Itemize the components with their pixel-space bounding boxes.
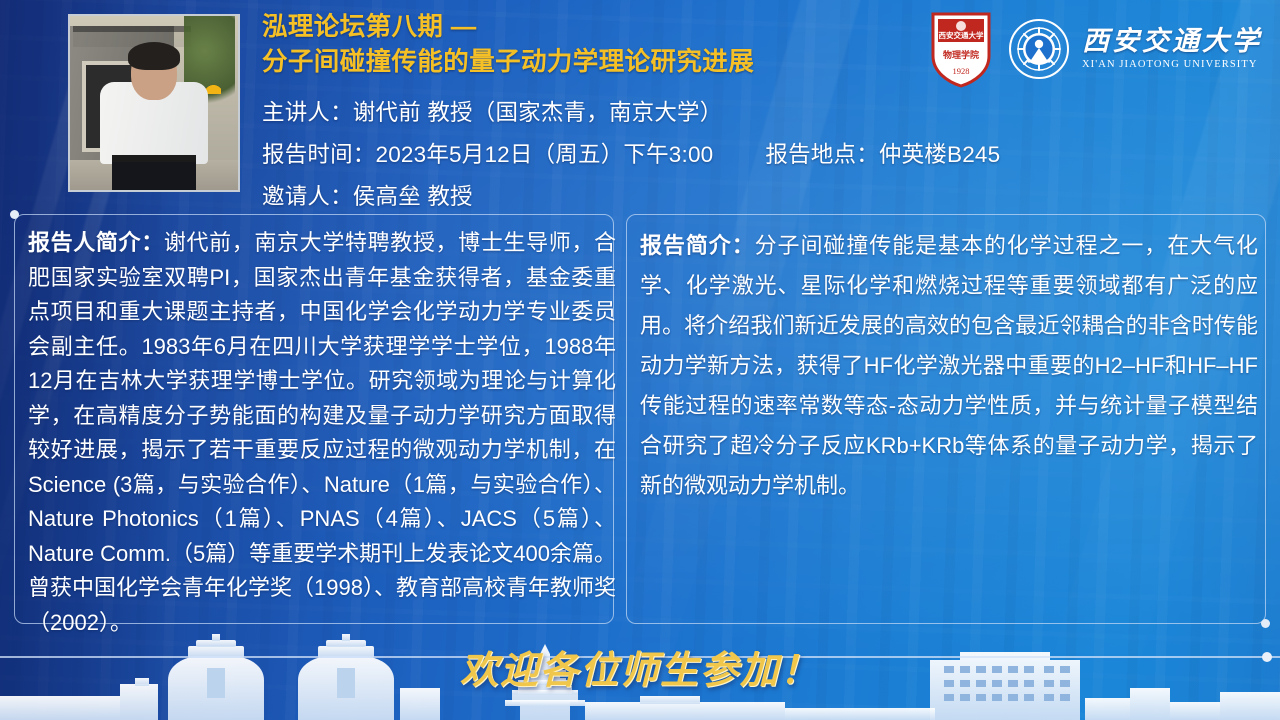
svg-text:物理学院: 物理学院: [943, 49, 979, 60]
poster-title: 泓理论坛第八期 — 分子间碰撞传能的量子动力学理论研究进展: [262, 10, 952, 79]
title-line-2: 分子间碰撞传能的量子动力学理论研究进展: [262, 45, 952, 80]
xjtu-name-en: XI'AN JIAOTONG UNIVERSITY: [1082, 60, 1258, 71]
speaker-photo: [68, 14, 240, 192]
time-place-row: 报告时间：2023年5月12日（周五）下午3:00 报告地点：仲英楼B245: [262, 134, 1102, 176]
place-text: 报告地点：仲英楼B245: [765, 144, 1000, 167]
speaker-bio-text: 报告人简介：谢代前，南京大学特聘教授，博士生导师，合肥国家实验室双聘PI，国家杰…: [28, 226, 616, 640]
speaker-bio-label: 报告人简介：: [28, 230, 164, 255]
xjtu-name-cn: 西安交通大学: [1082, 28, 1262, 55]
svg-text:1928: 1928: [953, 66, 970, 76]
abstract-text: 报告简介：分子间碰撞传能是基本的化学过程之一，在大气化学、化学激光、星际化学和燃…: [640, 226, 1258, 506]
speaker-bio-body: 谢代前，南京大学特聘教授，博士生导师，合肥国家实验室双聘PI，国家杰出青年基金获…: [28, 230, 616, 635]
speaker-row: 主讲人：谢代前 教授（国家杰青，南京大学）: [262, 92, 1102, 134]
svg-text:西安交通大学: 西安交通大学: [939, 30, 984, 40]
abstract-label: 报告简介：: [640, 233, 755, 258]
host-text: 邀请人：侯高垒 教授: [262, 186, 473, 209]
time-text: 报告时间：2023年5月12日（周五）下午3:00: [262, 144, 713, 167]
seminar-poster: 泓理论坛第八期 — 分子间碰撞传能的量子动力学理论研究进展 主讲人：谢代前 教授…: [0, 0, 1280, 720]
xjtu-seal-icon: [1008, 18, 1070, 80]
host-row: 邀请人：侯高垒 教授: [262, 176, 1102, 218]
poster-meta: 主讲人：谢代前 教授（国家杰青，南京大学） 报告时间：2023年5月12日（周五…: [262, 92, 1102, 218]
title-line-1: 泓理论坛第八期 —: [262, 10, 952, 45]
welcome-banner: 欢迎各位师生参加！: [0, 639, 1280, 694]
logo-group: 西安交通大学 物理学院 1928: [930, 10, 1262, 88]
xjtu-logo: 西安交通大学 XI'AN JIAOTONG UNIVERSITY: [1008, 18, 1262, 80]
physics-school-shield-logo: 西安交通大学 物理学院 1928: [930, 10, 992, 88]
speaker-text: 主讲人：谢代前 教授（国家杰青，南京大学）: [262, 102, 722, 125]
abstract-body: 分子间碰撞传能是基本的化学过程之一，在大气化学、化学激光、星际化学和燃烧过程等重…: [640, 233, 1258, 498]
